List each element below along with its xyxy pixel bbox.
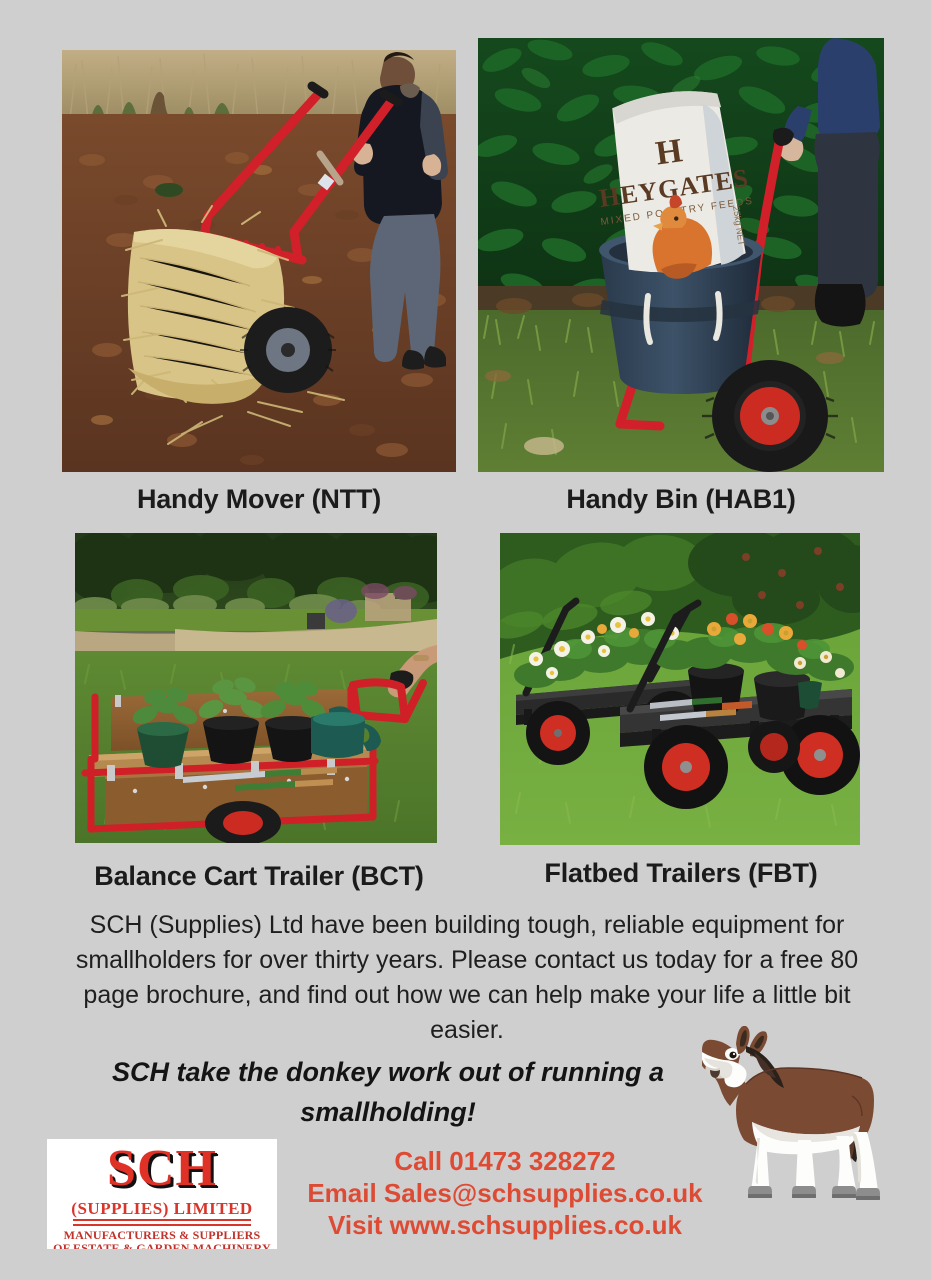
sch-logo: SCH (SUPPLIES) LIMITED MANUFACTURERS & S… (47, 1139, 277, 1249)
caption-handy-mover: Handy Mover (NTT) (62, 484, 456, 515)
logo-tagline-line-2: OF ESTATE & GARDEN MACHINERY (47, 1241, 277, 1249)
logo-wordmark: SCH (47, 1141, 277, 1197)
product-photo-flatbed-trailers (500, 533, 860, 845)
logo-divider-top (73, 1219, 251, 1221)
logo-subtitle: (SUPPLIES) LIMITED (47, 1199, 277, 1219)
logo-divider-bottom (73, 1224, 251, 1226)
product-photo-handy-bin: H HEYGATES MIXED POULTRY FEEDS 25kg NET (478, 38, 884, 472)
svg-text:H: H (653, 132, 684, 172)
product-photo-handy-mover (62, 50, 456, 472)
website-line[interactable]: Visit www.schsupplies.co.uk (275, 1209, 735, 1241)
caption-handy-bin: Handy Bin (HAB1) (478, 484, 884, 515)
caption-flatbed-trailers: Flatbed Trailers (FBT) (478, 858, 884, 889)
advert-page: H HEYGATES MIXED POULTRY FEEDS 25kg NET (0, 0, 931, 1280)
caption-balance-cart: Balance Cart Trailer (BCT) (62, 861, 456, 892)
product-photo-balance-cart (75, 533, 437, 843)
slogan: SCH take the donkey work out of running … (58, 1052, 718, 1132)
contact-block: Call 01473 328272 Email Sales@schsupplie… (275, 1145, 735, 1241)
email-line[interactable]: Email Sales@schsupplies.co.uk (275, 1177, 735, 1209)
phone-line[interactable]: Call 01473 328272 (275, 1145, 735, 1177)
